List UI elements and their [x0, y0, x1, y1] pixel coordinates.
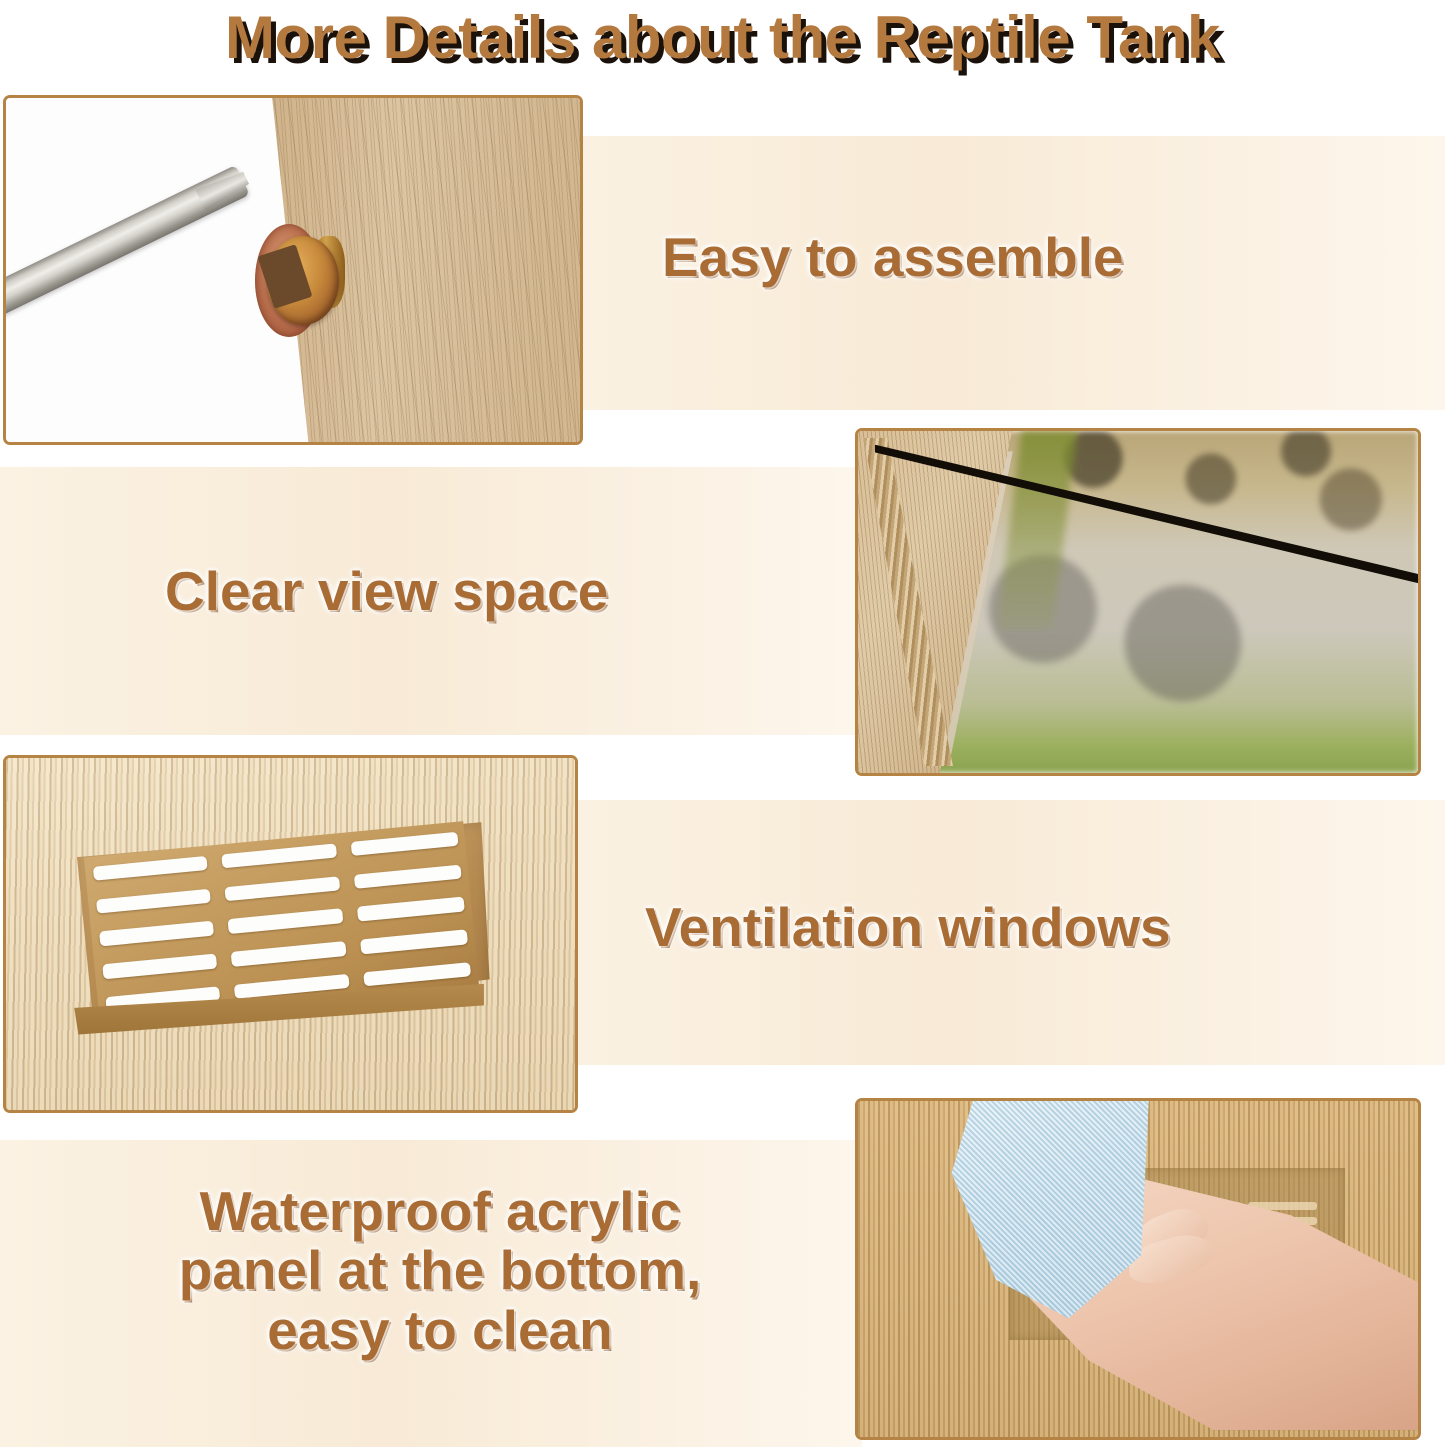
feature-photo-waterproof-acrylic-panel	[855, 1098, 1421, 1440]
product-infographic: More Details about the Reptile Tank Easy…	[0, 0, 1445, 1447]
feature-photo-clear-view-space	[855, 428, 1421, 776]
vent-slot	[99, 921, 214, 946]
cleaning-photo	[858, 1101, 1418, 1437]
vent-slot	[102, 954, 217, 979]
vent-slot	[231, 941, 346, 966]
vent-slot	[225, 876, 340, 901]
vent-slot	[363, 962, 471, 987]
clear-view-photo	[858, 431, 1418, 773]
vent-slot	[96, 888, 211, 913]
feature-caption-ventilation-windows: Ventilation windows	[600, 898, 1445, 957]
vent-slot	[354, 864, 462, 889]
screwdriver-shaft	[3, 165, 250, 335]
vent-slot	[222, 843, 337, 868]
feature-photo-ventilation-windows	[3, 755, 578, 1113]
vent-slot	[351, 832, 459, 857]
feature-photo-easy-to-assemble	[3, 95, 583, 445]
vent-slot	[228, 909, 343, 934]
vent-slot	[360, 929, 468, 954]
vent-slot-column	[93, 856, 221, 1012]
page-title: More Details about the Reptile Tank	[0, 0, 1445, 78]
feature-caption-easy-to-assemble: Easy to assemble	[600, 228, 1445, 287]
vent-slot-column	[351, 832, 471, 987]
feature-caption-clear-view-space: Clear view space	[60, 562, 820, 621]
vent-slot-column	[222, 843, 350, 999]
feature-caption-waterproof-acrylic-panel: Waterproof acrylic panel at the bottom, …	[40, 1182, 840, 1360]
vent-slot	[93, 856, 208, 881]
vent-slot	[357, 897, 465, 922]
ventilation-photo	[6, 758, 575, 1110]
screw-photo	[6, 98, 580, 442]
